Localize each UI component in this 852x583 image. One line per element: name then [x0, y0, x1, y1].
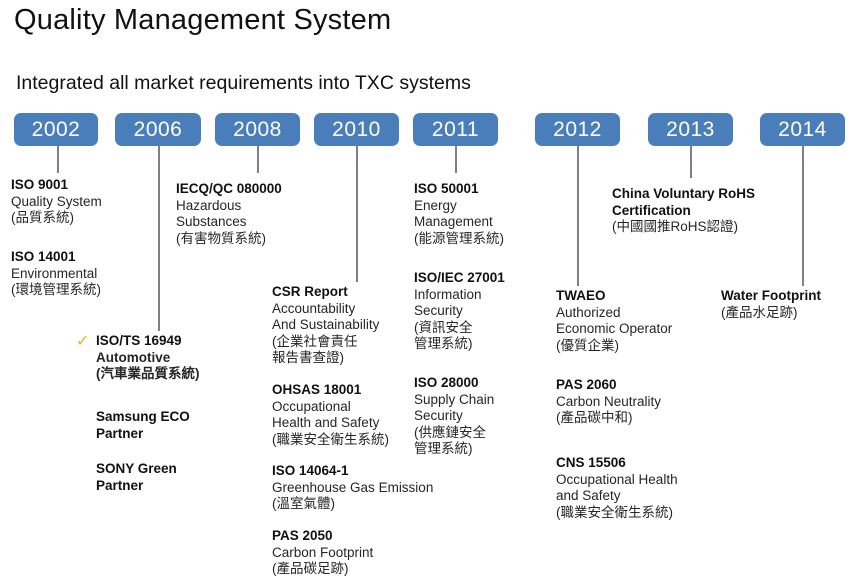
- entry-cn: (產品水足跡): [721, 305, 852, 322]
- entry-desc: Occupational Health and Safety: [556, 472, 726, 505]
- entry-code: ISO/IEC 27001: [414, 270, 544, 287]
- entry-desc: Supply Chain Security: [414, 392, 544, 425]
- entry-iso-14001: ISO 14001 Environmental (環境管理系統): [11, 249, 141, 299]
- connector-line-2014: [802, 146, 804, 286]
- entry-code: ISO 14001: [11, 249, 141, 266]
- timeline-year-2002[interactable]: 2002: [14, 113, 98, 146]
- entry-desc: Environmental: [11, 266, 141, 283]
- entry-cn: (職業安全衛生系統): [556, 505, 726, 522]
- entry-desc: Accountability And Sustainability: [272, 301, 422, 334]
- entry-samsung-eco-partner: Samsung ECO Partner: [96, 409, 236, 442]
- entry-code: SONY Green Partner: [96, 461, 236, 494]
- entry-iso-iec-27001: ISO/IEC 27001 Information Security (資訊安全…: [414, 270, 544, 353]
- connector-line-2011: [455, 146, 457, 173]
- entry-desc: Hazardous Substances: [176, 198, 336, 231]
- entry-cn: (環境管理系統): [11, 282, 141, 299]
- entry-code: IECQ/QC 080000: [176, 181, 336, 198]
- timeline-year-2014[interactable]: 2014: [760, 113, 845, 146]
- entry-code: ISO 14064-1: [272, 463, 472, 480]
- entry-code: CSR Report: [272, 284, 422, 301]
- connector-line-2002: [57, 146, 59, 173]
- entry-pas-2060: PAS 2060 Carbon Neutrality (產品碳中和): [556, 377, 716, 427]
- timeline-year-2010[interactable]: 2010: [314, 113, 399, 146]
- page-title: Quality Management System: [14, 4, 391, 37]
- entry-code: OHSAS 18001: [272, 382, 432, 399]
- entry-cn: (溫室氣體): [272, 496, 472, 513]
- entry-desc: Energy Management: [414, 198, 544, 231]
- entry-code: ISO 50001: [414, 181, 544, 198]
- entry-twaeo: TWAEO Authorized Economic Operator (優質企業…: [556, 288, 716, 354]
- entry-cn: (優質企業): [556, 338, 716, 355]
- entry-ohsas-18001: OHSAS 18001 Occupational Health and Safe…: [272, 382, 432, 448]
- entry-code: ISO/TS 16949: [96, 333, 246, 350]
- entry-desc: Automotive: [96, 350, 246, 367]
- timeline-year-2011[interactable]: 2011: [413, 113, 498, 146]
- page-subtitle: Integrated all market requirements into …: [16, 72, 471, 95]
- entry-water-footprint: Water Footprint (產品水足跡): [721, 288, 852, 321]
- entry-code: ISO 28000: [414, 375, 544, 392]
- entry-cn: (資訊安全 管理系統): [414, 320, 544, 353]
- entry-cn: (汽車業品質系統): [96, 366, 246, 383]
- entry-desc: Carbon Footprint: [272, 545, 442, 562]
- entry-iso-50001: ISO 50001 Energy Management (能源管理系統): [414, 181, 544, 247]
- entry-cn: (有害物質系統): [176, 231, 336, 248]
- timeline-year-2013b[interactable]: 2013: [648, 113, 733, 146]
- entry-code: China Voluntary RoHS Certification: [612, 186, 802, 219]
- entry-desc: Greenhouse Gas Emission: [272, 480, 472, 497]
- connector-line-2013: [690, 146, 692, 178]
- entry-china-voluntary-rohs: China Voluntary RoHS Certification (中國國推…: [612, 186, 802, 236]
- entry-iecq-qc-080000: IECQ/QC 080000 Hazardous Substances (有害物…: [176, 181, 336, 247]
- timeline-year-2008[interactable]: 2008: [215, 113, 300, 146]
- entry-cn: (產品碳足跡): [272, 561, 442, 578]
- entry-desc: Occupational Health and Safety: [272, 399, 432, 432]
- entry-cn: (品質系統): [11, 210, 131, 227]
- entry-iso-28000: ISO 28000 Supply Chain Security (供應鏈安全 管…: [414, 375, 544, 458]
- connector-line-2012: [577, 146, 579, 286]
- entry-code: ISO 9001: [11, 177, 131, 194]
- check-mark-icon: ✓: [76, 335, 91, 348]
- entry-cn: (企業社會責任 報告書查證): [272, 334, 422, 367]
- connector-line-2006: [158, 146, 160, 331]
- entry-csr-report: CSR Report Accountability And Sustainabi…: [272, 284, 422, 367]
- entry-code: CNS 15506: [556, 455, 726, 472]
- entry-cn: (職業安全衛生系統): [272, 432, 432, 449]
- entry-cn: (能源管理系統): [414, 231, 544, 248]
- entry-cn: (中國國推RoHS認證): [612, 219, 802, 236]
- entry-code: PAS 2050: [272, 528, 442, 545]
- entry-desc: Carbon Neutrality: [556, 394, 716, 411]
- entry-iso-14064-1: ISO 14064-1 Greenhouse Gas Emission (溫室氣…: [272, 463, 472, 513]
- entry-desc: Authorized Economic Operator: [556, 305, 716, 338]
- entry-cn: (產品碳中和): [556, 410, 716, 427]
- entry-iso-ts-16949: ✓ ISO/TS 16949 Automotive (汽車業品質系統): [96, 333, 246, 383]
- entry-sony-green-partner: SONY Green Partner: [96, 461, 236, 494]
- entry-code: TWAEO: [556, 288, 716, 305]
- entry-code: Water Footprint: [721, 288, 852, 305]
- timeline-year-2013[interactable]: 2012: [535, 113, 620, 146]
- connector-line-2008: [257, 146, 259, 173]
- entry-pas-2050: PAS 2050 Carbon Footprint (產品碳足跡): [272, 528, 442, 578]
- entry-iso-9001: ISO 9001 Quality System (品質系統): [11, 177, 131, 227]
- entry-code: Samsung ECO Partner: [96, 409, 236, 442]
- connector-line-2010: [356, 146, 358, 282]
- entry-cns-15506: CNS 15506 Occupational Health and Safety…: [556, 455, 726, 521]
- entry-cn: (供應鏈安全 管理系統): [414, 425, 544, 458]
- entry-desc: Quality System: [11, 194, 131, 211]
- timeline-year-2006[interactable]: 2006: [115, 113, 201, 146]
- entry-desc: Information Security: [414, 287, 544, 320]
- entry-code: PAS 2060: [556, 377, 716, 394]
